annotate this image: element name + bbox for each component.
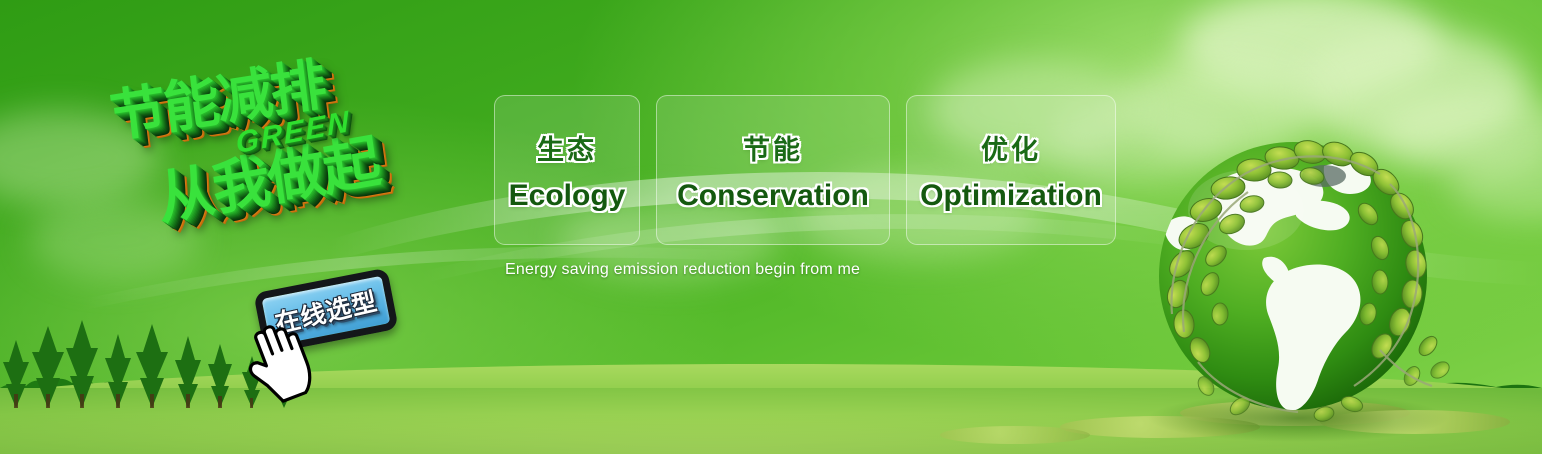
feature-card-conservation-en: Conservation	[677, 179, 869, 213]
feature-card-ecology[interactable]: 生态 Ecology	[494, 95, 640, 245]
feature-card-optimization-en: Optimization	[920, 179, 1102, 213]
banner-tagline: Energy saving emission reduction begin f…	[505, 261, 860, 279]
feature-card-optimization-cn: 优化	[981, 128, 1041, 167]
headline-3d-text: 节能减排 GREEN 从我做起	[84, 18, 506, 289]
feature-card-optimization[interactable]: 优化 Optimization	[906, 95, 1116, 245]
green-energy-banner: 节能减排 GREEN 从我做起 在线选型 生态 Ecology 节能 Conse…	[0, 0, 1542, 454]
feature-card-ecology-cn: 生态	[537, 128, 597, 167]
leafy-earth-globe-icon	[1128, 118, 1458, 448]
feature-card-conservation-cn: 节能	[743, 128, 803, 167]
feature-card-ecology-en: Ecology	[509, 179, 626, 213]
feature-cards: 生态 Ecology 节能 Conservation 优化 Optimizati…	[494, 95, 1116, 245]
feature-card-conservation[interactable]: 节能 Conservation	[656, 95, 890, 245]
online-selection-button-label: 在线选型	[271, 282, 380, 340]
